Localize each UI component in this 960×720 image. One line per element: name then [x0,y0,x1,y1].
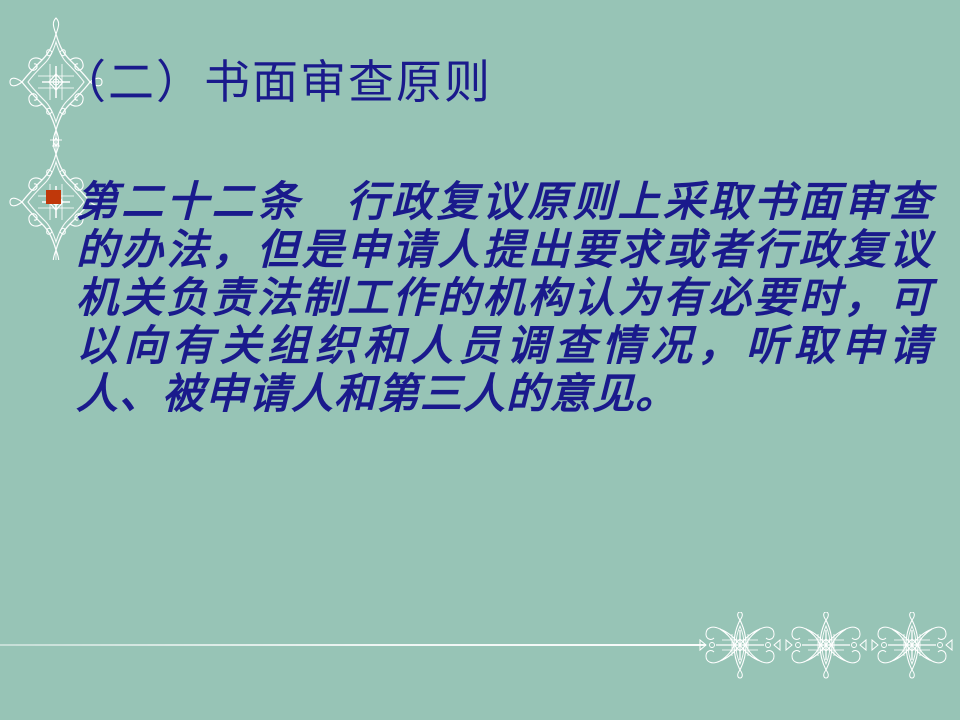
slide-canvas: （二）书面审查原则 第二十二条行政复议原则上采取书面审查的办法，但是申请人提出要… [0,0,960,720]
filigree-ornament-row [700,612,952,678]
bottom-decoration [0,612,960,682]
body-paragraph: 第二十二条行政复议原则上采取书面审查的办法，但是申请人提出要求或者行政复议机关负… [76,178,932,418]
red-square-bullet-icon [46,190,61,204]
slide-title: （二）书面审查原则 [60,53,920,111]
body-heading: 第二十二条 [76,177,302,226]
horizontal-rule-icon [0,612,960,682]
